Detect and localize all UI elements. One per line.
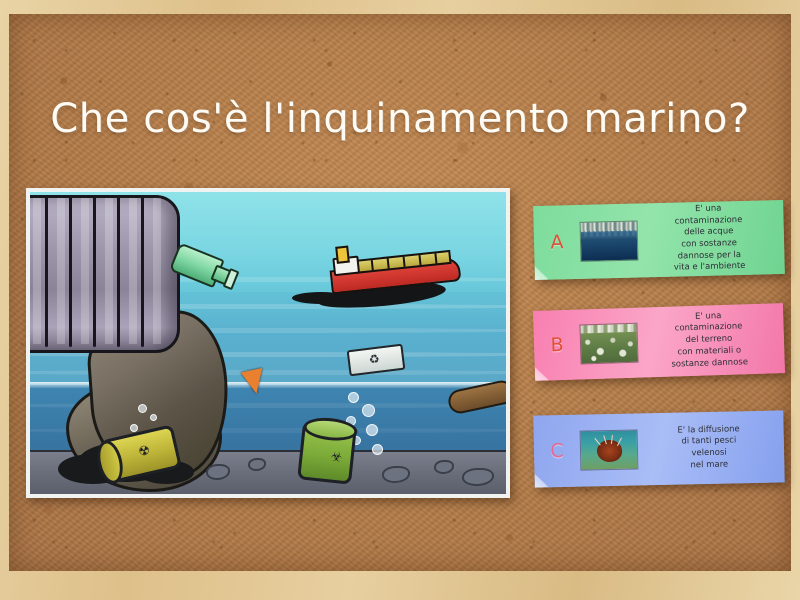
marine-pollution-illustration: ♻ ☢ ☣ xyxy=(30,192,506,494)
discharge-pipe xyxy=(30,195,180,353)
answer-text-b: E' una contaminazione del terreno con ma… xyxy=(637,309,785,372)
polluted-sea-photo xyxy=(581,222,638,261)
lionfish-photo xyxy=(581,430,638,469)
paper-fold-corner xyxy=(534,473,548,487)
answer-option-a[interactable]: A E' una contaminazione delle acque con … xyxy=(533,200,785,280)
page-title: Che cos'è l'inquinamento marino? xyxy=(0,96,800,142)
oil-slick-trail xyxy=(292,292,350,304)
answer-thumbnail-b xyxy=(579,323,638,365)
biohazard-icon: ☣ xyxy=(330,449,343,465)
paper-fold-corner xyxy=(535,366,549,380)
air-bubble xyxy=(362,404,375,417)
answer-thumbnail-a xyxy=(580,221,639,262)
traffic-cone xyxy=(241,368,268,396)
ship-funnel xyxy=(335,246,350,264)
answer-letter-c: C xyxy=(534,440,580,463)
air-bubble xyxy=(372,444,383,455)
recycle-icon: ♻ xyxy=(368,352,380,367)
air-bubble xyxy=(150,414,157,421)
answer-letter-a: A xyxy=(534,231,581,254)
answer-text-c: E' la diffusione di tanti pesci velenosi… xyxy=(638,423,785,473)
answer-option-c[interactable]: C E' la diffusione di tanti pesci veleno… xyxy=(533,410,784,487)
answer-option-b[interactable]: B E' una contaminazione del terreno con … xyxy=(533,303,785,381)
air-bubble xyxy=(138,404,147,413)
green-toxic-barrel: ☣ xyxy=(297,421,357,484)
question-image: ♻ ☢ ☣ xyxy=(26,188,510,498)
air-bubble xyxy=(366,424,378,436)
answer-text-a: E' una contaminazione delle acque con so… xyxy=(637,202,785,276)
quiz-slide: Che cos'è l'inquinamento marino? xyxy=(0,0,800,600)
air-bubble xyxy=(348,392,359,403)
littered-land-photo xyxy=(580,324,637,364)
biohazard-icon: ☢ xyxy=(137,443,152,460)
answer-thumbnail-c xyxy=(580,429,639,470)
answer-letter-b: B xyxy=(534,333,581,356)
paper-fold-corner xyxy=(535,266,549,280)
air-bubble xyxy=(130,424,138,432)
